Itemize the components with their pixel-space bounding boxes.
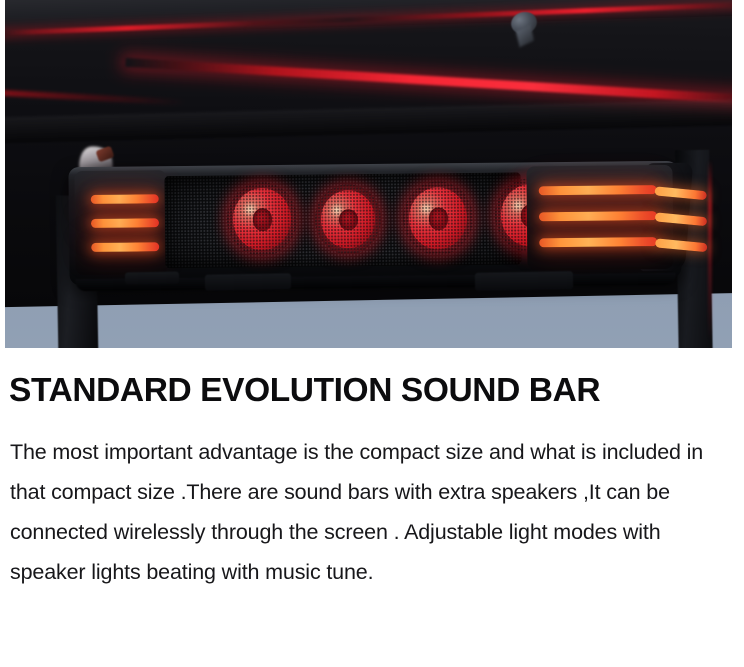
mounting-bracket-right [475,271,573,291]
product-description: The most important advantage is the comp… [0,408,744,592]
led-panel-right [526,165,673,271]
driver-mesh-overlay [403,181,474,256]
led-bar-left-2 [91,218,159,228]
led-bar-left-1 [91,194,159,204]
speaker-driver-3 [409,187,468,250]
led-bar-right-3 [539,237,657,247]
speaker-driver-2 [321,190,376,249]
page-title: STANDARD EVOLUTION SOUND BAR [0,348,744,408]
product-text-block: STANDARD EVOLUTION SOUND BAR The most im… [0,348,744,592]
led-bar-right-1 [539,185,657,195]
product-photo [5,0,732,348]
led-panel-left [74,170,167,275]
speaker-driver-1 [233,188,292,251]
driver-mesh-overlay [315,184,382,255]
mounting-bracket-center [205,273,291,290]
driver-mesh-overlay [227,182,298,257]
product-section: STANDARD EVOLUTION SOUND BAR The most im… [0,0,744,667]
desk-leg-led [708,160,712,340]
sound-bar-unit [68,161,681,285]
led-bar-left-3 [91,242,159,252]
mounting-bracket-left [125,272,179,285]
led-bar-right-2 [539,211,657,221]
